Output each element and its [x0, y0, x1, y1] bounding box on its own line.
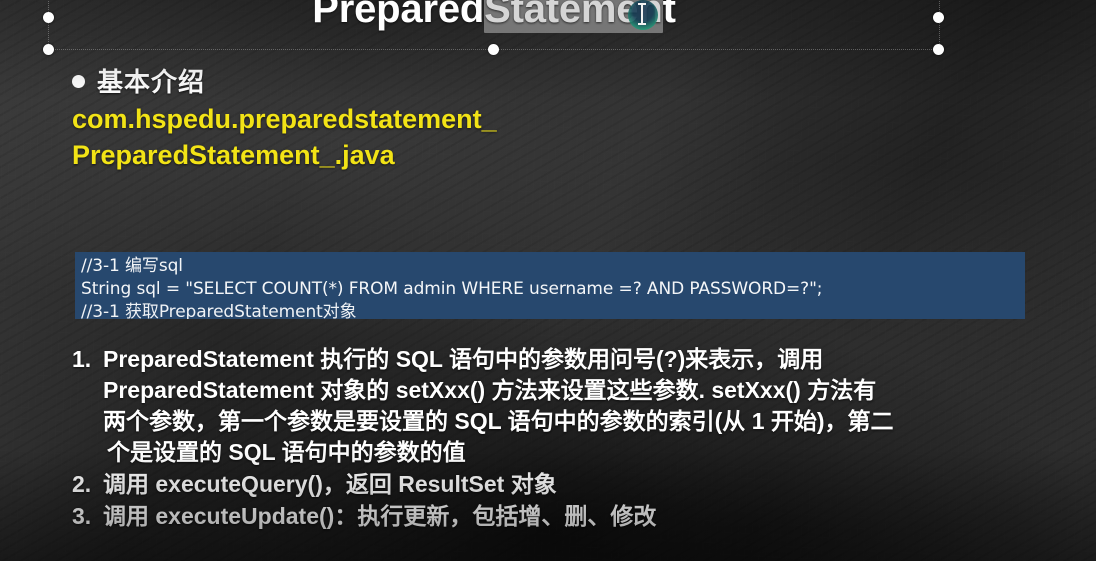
list-item-line: 个是设置的 SQL 语句中的参数的值 [103, 437, 1084, 468]
list-item-body: 调用 executeUpdate()：执行更新，包括增、删、修改 [103, 501, 1084, 532]
list-item-line: 两个参数，第一个参数是要设置的 SQL 语句中的参数的索引(从 1 开始)，第二 [103, 406, 1084, 437]
presentation-slide: PreparedStatement 基本介绍 com.hspedu.prepar… [0, 0, 1096, 561]
bullet-dot-icon [72, 75, 85, 88]
resize-handle-middle-left[interactable] [43, 12, 54, 23]
list-item: 2. 调用 executeQuery()，返回 ResultSet 对象 [72, 469, 1084, 500]
list-item-body: PreparedStatement 执行的 SQL 语句中的参数用问号(?)来表… [103, 344, 1084, 468]
list-item-marker: 1. [72, 344, 103, 468]
numbered-notes-list: 1. PreparedStatement 执行的 SQL 语句中的参数用问号(?… [72, 344, 1084, 533]
list-item-marker: 3. [72, 501, 103, 532]
list-item-marker: 2. [72, 469, 103, 500]
list-item-line: PreparedStatement 执行的 SQL 语句中的参数用问号(?)来表… [103, 344, 1084, 375]
code-line-1: //3-1 编写sql [75, 252, 1025, 278]
resize-handle-bottom-center[interactable] [488, 44, 499, 55]
title-prefix-text: Prepared [312, 0, 484, 31]
code-line-2: String sql = "SELECT COUNT(*) FROM admin… [75, 278, 1025, 301]
section-bullet-label: 基本介绍 [97, 67, 205, 97]
list-item-body: 调用 executeQuery()，返回 ResultSet 对象 [103, 469, 1084, 500]
text-cursor-icon [641, 3, 643, 25]
list-item-line: 调用 executeUpdate()：执行更新，包括增、删、修改 [103, 501, 1084, 532]
resize-handle-middle-right[interactable] [933, 12, 944, 23]
list-item: 1. PreparedStatement 执行的 SQL 语句中的参数用问号(?… [72, 344, 1084, 468]
title-suffix-text: t [663, 0, 676, 31]
package-path-line-2: PreparedStatement_.java [72, 140, 395, 171]
section-bullet-heading: 基本介绍 [72, 62, 205, 99]
resize-handle-bottom-left[interactable] [43, 44, 54, 55]
list-item-line: PreparedStatement 对象的 setXxx() 方法来设置这些参数… [103, 375, 1084, 406]
page-title[interactable]: PreparedStatement [49, 0, 939, 32]
title-placeholder-box[interactable]: PreparedStatement [48, 0, 940, 50]
list-item: 3. 调用 executeUpdate()：执行更新，包括增、删、修改 [72, 501, 1084, 532]
code-snippet-block[interactable]: //3-1 编写sql String sql = "SELECT COUNT(*… [75, 252, 1025, 319]
package-path-line-1: com.hspedu.preparedstatement_ [72, 104, 497, 135]
list-item-line: 调用 executeQuery()，返回 ResultSet 对象 [103, 469, 1084, 500]
resize-handle-bottom-right[interactable] [933, 44, 944, 55]
code-line-3: //3-1 获取PreparedStatement对象 [75, 301, 1025, 319]
